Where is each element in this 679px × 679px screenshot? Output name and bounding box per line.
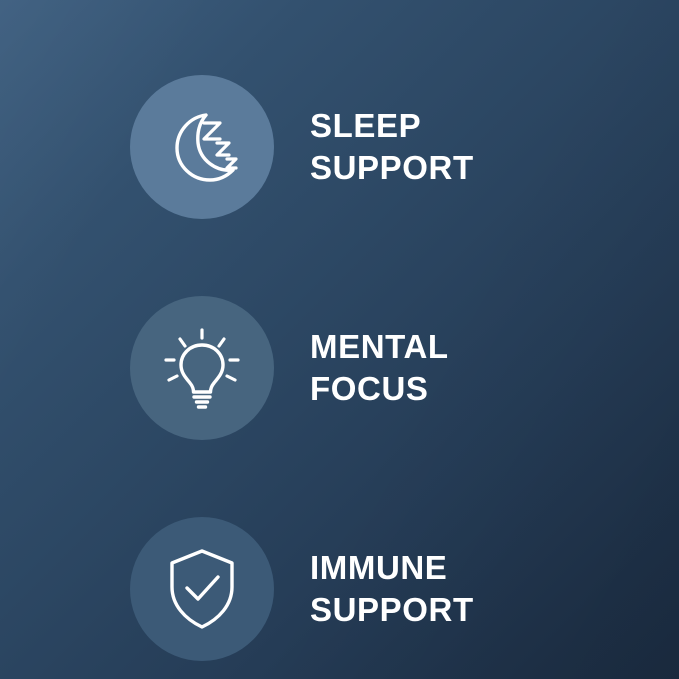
label-line-1: SLEEP — [310, 105, 474, 147]
badge-sleep-support — [130, 75, 274, 219]
lightbulb-icon — [154, 320, 250, 416]
shield-check-icon — [154, 541, 250, 637]
badge-mental-focus — [130, 296, 274, 440]
feature-row-mental-focus: MENTAL FOCUS — [0, 257, 679, 478]
label-line-2: SUPPORT — [310, 147, 474, 189]
feature-row-sleep-support: SLEEP SUPPORT — [0, 36, 679, 257]
label-sleep-support: SLEEP SUPPORT — [310, 105, 474, 188]
label-line-2: SUPPORT — [310, 589, 474, 631]
feature-poster: SLEEP SUPPORT — [0, 0, 679, 679]
label-line-1: MENTAL — [310, 326, 449, 368]
label-immune-support: IMMUNE SUPPORT — [310, 547, 474, 630]
badge-immune-support — [130, 517, 274, 661]
label-mental-focus: MENTAL FOCUS — [310, 326, 449, 409]
moon-zzz-icon — [154, 99, 250, 195]
feature-row-immune-support: IMMUNE SUPPORT — [0, 478, 679, 679]
label-line-2: FOCUS — [310, 368, 449, 410]
feature-list: SLEEP SUPPORT — [0, 0, 679, 679]
label-line-1: IMMUNE — [310, 547, 474, 589]
